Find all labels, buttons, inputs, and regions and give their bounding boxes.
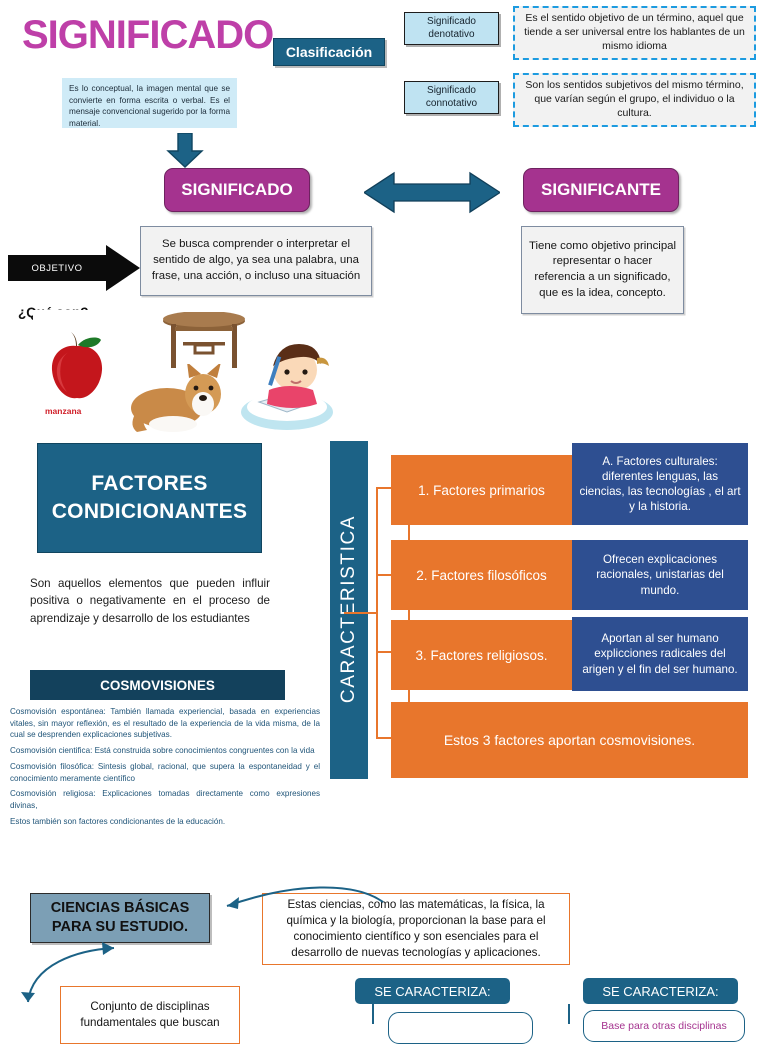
examples-image-panel: manzana mesa: [33, 310, 338, 435]
cosmovision-line: Cosmovisión espontánea: También llamada …: [10, 706, 320, 741]
double-arrow-icon: [364, 170, 500, 215]
factores-condicionantes-header: FACTORES CONDICIONANTES: [37, 443, 262, 553]
se-caracteriza-left-connector: [372, 1004, 374, 1024]
connector-to-bar: [344, 612, 378, 614]
curved-arrow-right-icon: [205, 884, 385, 924]
se-caracteriza-left-item: [388, 1012, 533, 1044]
significado-pill[interactable]: SIGNIFICADO: [164, 168, 310, 212]
arrow-down-icon: [166, 133, 204, 169]
clasificacion-item-connotativo[interactable]: Significado connotativo: [404, 81, 499, 114]
factor-row-2-label[interactable]: 2. Factores filosóficos: [391, 540, 572, 610]
dog-image: [125, 364, 231, 434]
se-caracteriza-right-header: SE CARACTERIZA:: [583, 978, 738, 1004]
se-caracteriza-right-connector: [568, 1004, 570, 1024]
significado-description: Se busca comprender o interpretar el sen…: [140, 226, 372, 296]
cosmovisiones-header: COSMOVISIONES: [30, 670, 285, 700]
intro-definition-box: Es lo conceptual, la imagen mental que s…: [62, 78, 237, 128]
apple-image: [41, 330, 113, 402]
caracteristica-vertical-bar: CARACTERISTICA: [330, 441, 368, 779]
factores-summary-box: Estos 3 factores aportan cosmovisiones.: [391, 702, 748, 778]
ciencias-basicas-header: CIENCIAS BÁSICAS PARA SU ESTUDIO.: [30, 893, 210, 943]
clasificacion-detail-connotativo: Son los sentidos subjetivos del mismo té…: [513, 73, 756, 127]
factores-description: Son aquellos elementos que pueden influi…: [30, 575, 270, 627]
ciencias-definition-box: Conjunto de disciplinas fundamentales qu…: [60, 986, 240, 1044]
clasificacion-detail-denotativo: Es el sentido objetivo de un término, aq…: [513, 6, 756, 60]
cosmovision-line: Cosmovisión religiosa: Explicaciones tom…: [10, 788, 320, 811]
connector-left-rail: [376, 487, 378, 739]
se-caracteriza-right-item: Base para otras disciplinas: [583, 1010, 745, 1042]
factor-row-3-detail: Aportan al ser humano explicciones radic…: [572, 617, 748, 691]
factor-row-2-detail: Ofrecen explicaciones racionales, unista…: [572, 540, 748, 610]
cosmovision-line: Cosmovisión filosófica: Sintesis global,…: [10, 761, 320, 784]
significante-pill[interactable]: SIGNIFICANTE: [523, 168, 679, 212]
factor-row-1-detail: A. Factores culturales: diferentes lengu…: [572, 443, 748, 525]
objetivo-arrow: OBJETIVO: [8, 245, 140, 291]
se-caracteriza-left-header: SE CARACTERIZA:: [355, 978, 510, 1004]
cosmovision-line: Cosmovisión cientifica: Está construida …: [10, 745, 320, 757]
cosmovision-line: Estos también son factores condicionante…: [10, 816, 320, 828]
connector-trunk: [408, 488, 410, 738]
apple-label: manzana: [45, 406, 81, 416]
factor-row-3-label[interactable]: 3. Factores religiosos.: [391, 620, 572, 690]
factor-row-1-label[interactable]: 1. Factores primarios: [391, 455, 572, 525]
clasificacion-item-denotativo[interactable]: Significado denotativo: [404, 12, 499, 45]
cosmovisiones-text-block: Cosmovisión espontánea: También llamada …: [10, 706, 320, 832]
objetivo-label: OBJETIVO: [8, 245, 106, 291]
clasificacion-header: Clasificación: [273, 38, 385, 66]
girl-reading-image: [239, 340, 335, 432]
significante-description: Tiene como objetivo principal representa…: [521, 226, 684, 314]
caracteristica-label: CARACTERISTICA: [338, 499, 360, 719]
